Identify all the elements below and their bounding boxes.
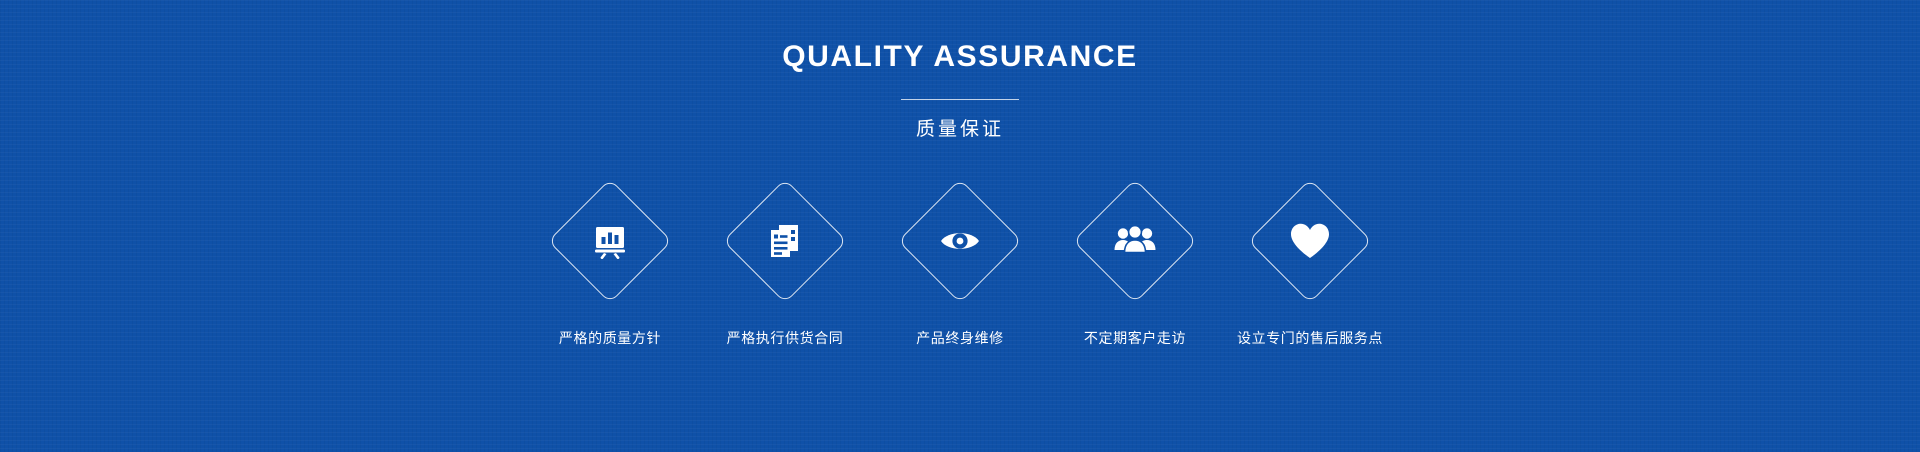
feature-caption: 产品终身维修 (916, 331, 1004, 345)
quality-assurance-banner: QUALITY ASSURANCE 质量保证 (0, 0, 1920, 452)
diamond-frame-2 (723, 179, 847, 303)
feature-caption: 严格执行供货合同 (727, 331, 844, 345)
document-contract-icon (763, 219, 807, 263)
people-group-icon (1113, 219, 1157, 263)
page-title-english: QUALITY ASSURANCE (782, 42, 1138, 72)
page-title-chinese: 质量保证 (916, 120, 1004, 139)
banner-header: QUALITY ASSURANCE 质量保证 (0, 0, 1920, 139)
feature-item-lifetime-repair[interactable]: 产品终身维修 (873, 179, 1048, 345)
heart-icon (1288, 219, 1332, 263)
feature-item-supply-contract[interactable]: 严格执行供货合同 (698, 179, 873, 345)
diamond-frame-3 (898, 179, 1022, 303)
diamond-frame-1 (548, 179, 672, 303)
feature-item-customer-visits[interactable]: 不定期客户走访 (1048, 179, 1223, 345)
feature-list: 严格的质量方针 (523, 179, 1398, 345)
feature-caption: 设立专门的售后服务点 (1237, 331, 1383, 345)
eye-icon (938, 219, 982, 263)
feature-item-quality-policy[interactable]: 严格的质量方针 (523, 179, 698, 345)
title-divider (901, 99, 1019, 100)
presentation-chart-icon (588, 219, 632, 263)
feature-item-service-points[interactable]: 设立专门的售后服务点 (1223, 179, 1398, 345)
diamond-frame-5 (1248, 179, 1372, 303)
feature-caption: 严格的质量方针 (559, 331, 661, 345)
diamond-frame-4 (1073, 179, 1197, 303)
feature-caption: 不定期客户走访 (1084, 331, 1186, 345)
